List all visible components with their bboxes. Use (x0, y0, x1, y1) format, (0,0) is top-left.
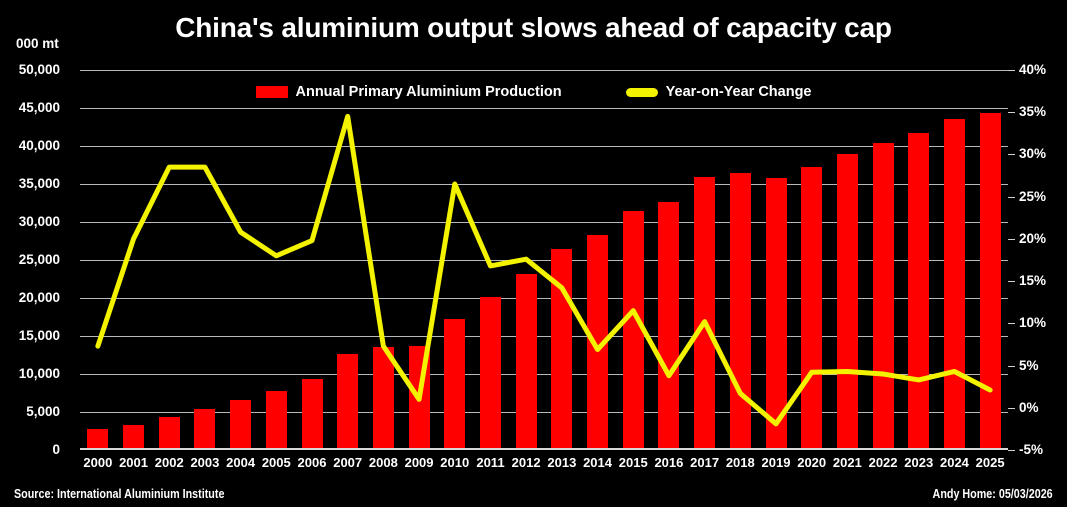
y-tick-label-left: 0 (52, 443, 60, 457)
y-tick-label-right: 35% (1019, 105, 1046, 119)
y-tick-label-left: 30,000 (19, 215, 60, 229)
y-tick-mark-right (1008, 112, 1015, 113)
y-tick-label-right: 40% (1019, 63, 1046, 77)
y-tick-label-right: 15% (1019, 274, 1046, 288)
y-tick-label-right: 5% (1019, 359, 1039, 373)
y-tick-label-left: 20,000 (19, 291, 60, 305)
y-axis-unit-label: 000 mt (16, 36, 59, 51)
legend-item-production[interactable]: Annual Primary Aluminium Production (256, 84, 562, 100)
y-tick-mark-right (1008, 197, 1015, 198)
y-tick-mark-right (1008, 281, 1015, 282)
y-tick-label-left: 50,000 (19, 63, 60, 77)
x-axis-labels: 2000200120022003200420052006200720082009… (80, 455, 1008, 479)
y-tick-label-right: 25% (1019, 190, 1046, 204)
y-tick-label-right: -5% (1019, 443, 1043, 457)
y-tick-label-left: 15,000 (19, 329, 60, 343)
y-tick-mark-right (1008, 239, 1015, 240)
y-tick-label-left: 40,000 (19, 139, 60, 153)
legend-label-yoy: Year-on-Year Change (666, 84, 812, 100)
y-tick-mark-right (1008, 323, 1015, 324)
chart-title: China's aluminium output slows ahead of … (0, 12, 1067, 44)
x-tick-label: 2025 (968, 455, 1012, 470)
y-tick-label-right: 30% (1019, 147, 1046, 161)
y-tick-mark-right (1008, 366, 1015, 367)
chart-footer: Source: International Aluminium Institut… (0, 481, 1067, 507)
y-tick-label-left: 10,000 (19, 367, 60, 381)
plot-area (80, 70, 1008, 450)
line-swatch-icon (626, 88, 658, 97)
y-axis-right: -5%0%5%10%15%20%25%30%35%40% (1013, 70, 1067, 450)
y-axis-left: 05,00010,00015,00020,00025,00030,00035,0… (0, 70, 76, 450)
line-series (80, 70, 1008, 450)
y-tick-mark-right (1008, 408, 1015, 409)
y-tick-mark-right (1008, 450, 1015, 451)
x-axis-line (80, 448, 1008, 450)
byline-text: Andy Home: 05/03/2026 (933, 487, 1053, 501)
y-tick-label-left: 45,000 (19, 101, 60, 115)
chart-container: China's aluminium output slows ahead of … (0, 0, 1067, 507)
y-tick-label-right: 0% (1019, 401, 1039, 415)
yoy-line-path (98, 116, 990, 423)
bar-swatch-icon (256, 86, 288, 98)
y-tick-mark-right (1008, 154, 1015, 155)
y-tick-label-right: 10% (1019, 316, 1046, 330)
source-text: Source: International Aluminium Institut… (14, 487, 224, 501)
legend-label-production: Annual Primary Aluminium Production (296, 84, 562, 100)
legend-item-yoy[interactable]: Year-on-Year Change (626, 84, 812, 100)
y-tick-label-left: 5,000 (26, 405, 60, 419)
y-tick-label-left: 25,000 (19, 253, 60, 267)
y-tick-label-left: 35,000 (19, 177, 60, 191)
y-tick-mark-right (1008, 70, 1015, 71)
y-tick-label-right: 20% (1019, 232, 1046, 246)
